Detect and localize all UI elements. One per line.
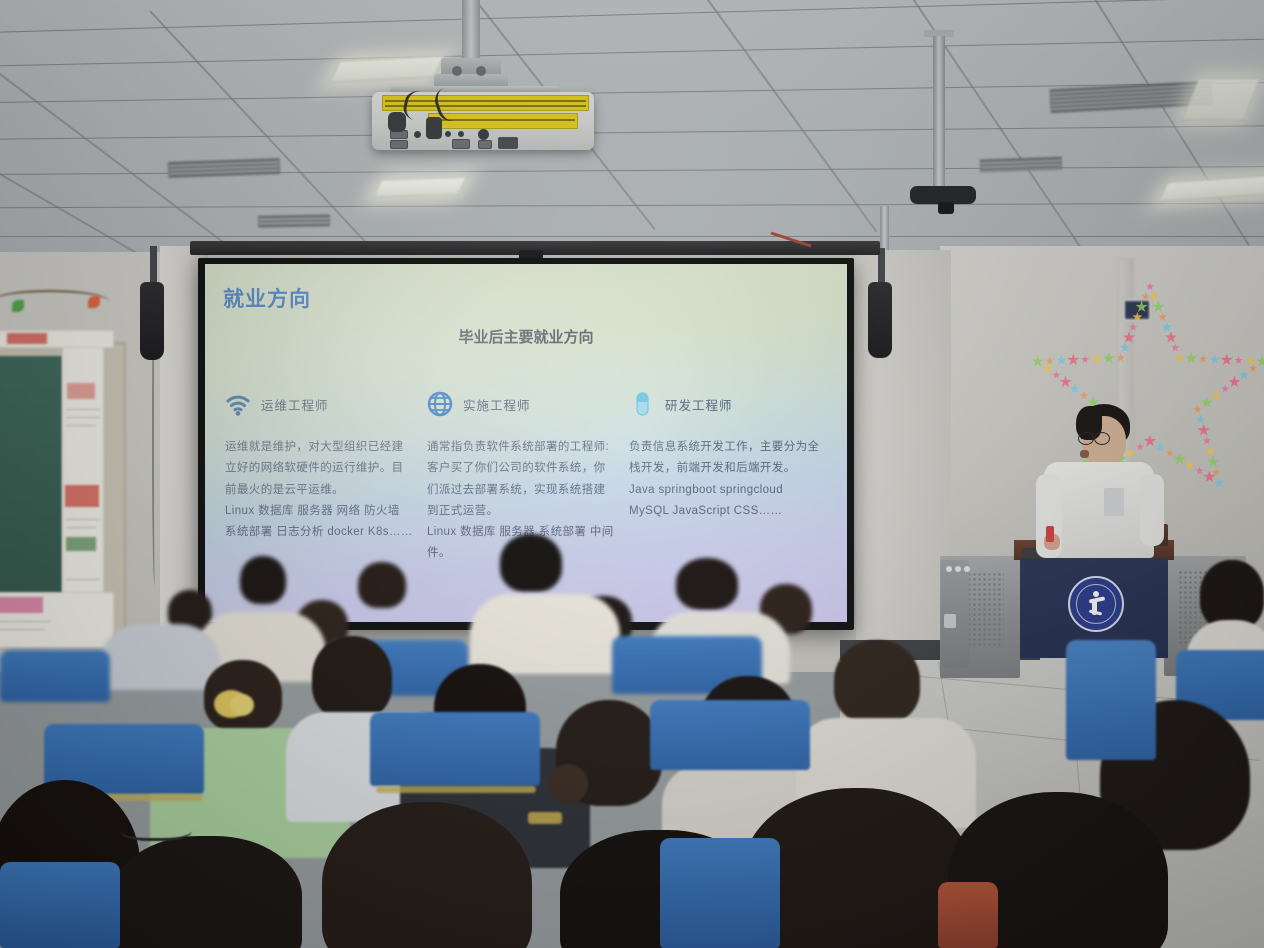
audience-glasses — [120, 816, 192, 841]
emblem-ring — [1076, 584, 1115, 623]
projector-port — [452, 139, 470, 149]
projector-knob — [458, 131, 464, 137]
leaf-decoration — [12, 300, 24, 312]
presenter-right-arm — [1140, 474, 1164, 546]
presenter-mouth — [1080, 450, 1089, 458]
slide-subtitle: 毕业后主要就业方向 — [205, 326, 847, 347]
green-chalkboard — [0, 356, 62, 594]
chair-seat-foreground — [0, 862, 120, 948]
wifi-icon — [225, 391, 251, 417]
column-keywords: Linux 数据库 服务器 网络 防火墙 系统部署 日志分析 docker K8… — [225, 501, 415, 544]
slide-column-ops: 运维工程师 运维就是维护，对大型组织已经建立好的网络软硬件的运行维护。目前最火的… — [225, 391, 415, 543]
classroom-photo: 就业方向 毕业后主要就业方向 运维工程师 运维就是维护，对大型组织已经建立好的网… — [0, 0, 1264, 948]
chair-seat — [1066, 640, 1156, 760]
audience-head — [240, 556, 286, 604]
wall-speaker — [140, 282, 164, 360]
hair-bun — [548, 764, 588, 804]
podium-switch — [946, 566, 952, 572]
chair-seat-back — [0, 650, 110, 702]
column-header: 运维工程师 — [225, 391, 415, 417]
audience-head — [834, 640, 920, 724]
audience-head-foreground — [322, 802, 532, 948]
audience-head — [500, 534, 562, 592]
presenter-shirt-pocket — [1104, 488, 1124, 516]
column-heading: 研发工程师 — [665, 395, 733, 414]
audience-shoulders — [470, 594, 620, 674]
audience-head-foreground — [112, 836, 302, 948]
presenter-held-object — [1046, 526, 1054, 542]
capsule-icon — [629, 391, 655, 417]
column-header: 研发工程师 — [629, 391, 825, 417]
camera-lens — [938, 202, 954, 214]
wall-speaker — [868, 282, 892, 358]
projector-knob — [445, 131, 451, 137]
podium-switch — [955, 566, 961, 572]
audience-shoulders — [100, 624, 220, 690]
wall-poster-bottom — [0, 592, 114, 648]
globe-icon — [427, 391, 453, 417]
camera-pole — [933, 36, 945, 188]
column-paragraph: 通常指负责软件系统部署的工程师:客户买了你们公司的软件系统，你们派过去部署系统，… — [427, 437, 617, 522]
projector-knob — [478, 129, 489, 140]
podium-latch — [944, 614, 956, 628]
column-paragraph: 运维就是维护，对大型组织已经建立好的网络软硬件的运行维护。目前最火的是云平运维。 — [225, 437, 415, 501]
podium-switch — [964, 566, 970, 572]
leaf-decoration — [88, 296, 100, 308]
hair-flower-clip — [230, 694, 254, 716]
ceiling-light — [373, 177, 467, 198]
presenter-glasses — [1094, 432, 1110, 445]
audience-head — [312, 636, 392, 720]
projector-mount-bolt — [452, 66, 462, 76]
projector-connector — [388, 112, 406, 132]
chair-seat — [370, 712, 540, 786]
column-heading: 运维工程师 — [261, 395, 329, 414]
chair-seat — [650, 700, 810, 770]
projector-pole — [462, 0, 480, 62]
projector-mount-bolt — [476, 66, 486, 76]
hair-clip — [528, 812, 562, 824]
audience-head — [358, 562, 406, 608]
audience-head — [676, 558, 738, 610]
wall-poster-top — [0, 330, 114, 348]
ceiling — [0, 0, 1264, 258]
column-header: 实施工程师 — [427, 391, 617, 417]
slide-column-dev: 研发工程师 负责信息系统开发工作，主要分为全栈开发，前端开发和后端开发。 Jav… — [629, 391, 825, 522]
projector-knob — [414, 131, 421, 138]
column-keywords: Java springboot springcloud MySQL JavaSc… — [629, 480, 825, 523]
presenter-glasses — [1078, 432, 1094, 445]
projector-port — [498, 137, 518, 149]
column-paragraph: 负责信息系统开发工作，主要分为全栈开发，前端开发和后端开发。 — [629, 437, 825, 480]
projector-port — [390, 140, 408, 149]
chair-edge — [376, 786, 536, 793]
projector-port — [478, 140, 492, 149]
university-emblem — [1068, 576, 1124, 632]
column-heading: 实施工程师 — [463, 395, 531, 414]
chair-seat-foreground — [660, 838, 780, 948]
speaker-arm — [150, 246, 157, 284]
chair-seat-foreground — [938, 882, 998, 948]
ceiling-air-vent — [258, 214, 330, 227]
slide-title: 就业方向 — [223, 283, 311, 313]
secondary-pole — [880, 206, 889, 250]
